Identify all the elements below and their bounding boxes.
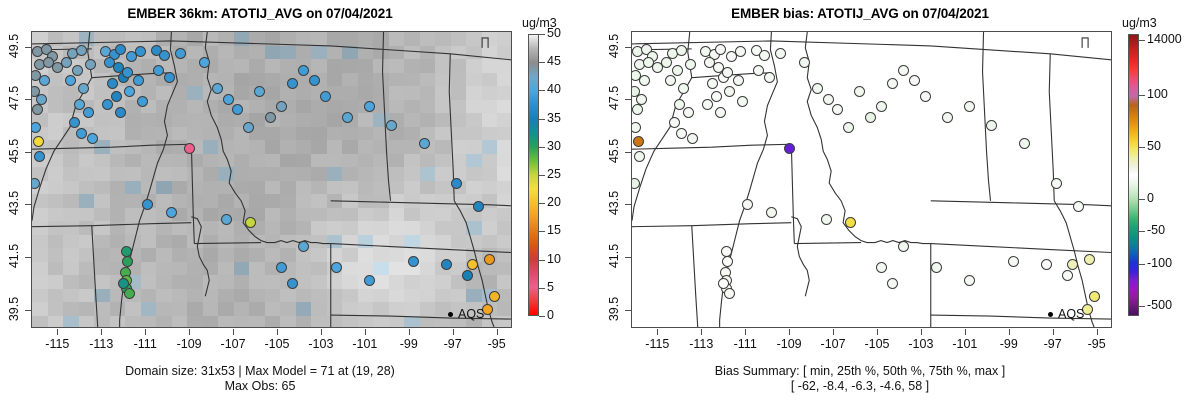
- figure-root: EMBER 36km: ATOTIJ_AVG on 07/04/2021: [0, 0, 1200, 409]
- x-axis-tick: [233, 329, 234, 335]
- colorbar-tick-label: 35: [547, 111, 561, 125]
- colorbar-tick-label: 0: [1147, 191, 1154, 205]
- x-axis-tick: [833, 329, 834, 335]
- x-axis-label: -95: [1074, 337, 1120, 351]
- y-axis-label: 43.5: [7, 180, 21, 226]
- colorbar-tick: [1139, 40, 1145, 41]
- x-axis-tick: [409, 329, 410, 335]
- x-axis-label: -111: [122, 337, 168, 351]
- bias-point[interactable]: [676, 45, 687, 56]
- bias-point[interactable]: [1019, 138, 1030, 149]
- observation-point[interactable]: [287, 78, 298, 89]
- observation-point[interactable]: [153, 65, 164, 76]
- y-axis-tick: [25, 99, 31, 100]
- observation-point[interactable]: [32, 104, 43, 115]
- observation-point[interactable]: [111, 91, 122, 102]
- x-axis-tick: [189, 329, 190, 335]
- x-axis-label: -107: [810, 337, 856, 351]
- observation-point[interactable]: [124, 288, 135, 299]
- bias-point[interactable]: [639, 75, 650, 86]
- observation-point[interactable]: [265, 112, 276, 123]
- observation-point[interactable]: [121, 246, 132, 257]
- observation-point[interactable]: [124, 86, 135, 97]
- bias-point[interactable]: [633, 136, 644, 147]
- bias-point[interactable]: [665, 75, 676, 86]
- aqs-legend-label-model: AQS: [458, 307, 484, 321]
- bias-point[interactable]: [1008, 256, 1019, 267]
- observation-point[interactable]: [118, 278, 129, 289]
- colorbar-tick: [539, 90, 545, 91]
- x-axis-label: -99: [386, 337, 432, 351]
- y-axis-label: 43.5: [607, 180, 621, 226]
- observation-point[interactable]: [245, 217, 256, 228]
- colorbar-tick-label: 20: [547, 195, 561, 209]
- observation-point[interactable]: [142, 199, 153, 210]
- colorbar-tick: [539, 288, 545, 289]
- bias-point[interactable]: [812, 83, 823, 94]
- panel-model: EMBER 36km: ATOTIJ_AVG on 07/04/2021: [0, 0, 600, 409]
- bias-point[interactable]: [674, 99, 685, 110]
- x-axis-label: -105: [254, 337, 300, 351]
- y-axis-label: 45.5: [607, 128, 621, 174]
- y-axis-tick: [625, 257, 631, 258]
- x-axis-tick: [789, 329, 790, 335]
- observation-point[interactable]: [87, 133, 98, 144]
- bias-point[interactable]: [898, 65, 909, 76]
- observation-point[interactable]: [31, 178, 40, 189]
- y-axis-tick: [625, 152, 631, 153]
- x-axis-label: -111: [722, 337, 768, 351]
- x-axis-label: -101: [342, 337, 388, 351]
- observation-point[interactable]: [364, 275, 375, 286]
- x-axis-label: -95: [474, 337, 520, 351]
- x-axis-tick: [57, 329, 58, 335]
- observation-point[interactable]: [61, 57, 72, 68]
- colorbar-tick: [539, 34, 545, 35]
- observation-point[interactable]: [364, 101, 375, 112]
- colorbar-gradient: [528, 34, 539, 316]
- bias-point[interactable]: [707, 78, 718, 89]
- bias-point[interactable]: [964, 275, 975, 286]
- bias-point[interactable]: [986, 120, 997, 131]
- observation-point[interactable]: [65, 75, 76, 86]
- x-axis-tick: [745, 329, 746, 335]
- aqs-legend-dot-model: [448, 312, 453, 317]
- observation-point[interactable]: [83, 107, 94, 118]
- bias-point[interactable]: [687, 133, 698, 144]
- colorbar-tick-label: -50: [1147, 223, 1165, 237]
- observation-point[interactable]: [76, 45, 87, 56]
- y-axis-tick: [625, 99, 631, 100]
- observation-point[interactable]: [320, 91, 331, 102]
- x-axis-tick: [497, 329, 498, 335]
- colorbar-tick-label: 40: [547, 82, 561, 96]
- y-axis-tick: [625, 310, 631, 311]
- x-axis-label: -109: [166, 337, 212, 351]
- observation-point[interactable]: [408, 256, 419, 267]
- state-boundaries-bias: [632, 32, 1111, 327]
- x-axis-tick: [657, 329, 658, 335]
- x-axis-label: -103: [898, 337, 944, 351]
- bias-point[interactable]: [676, 128, 687, 139]
- colorbar-tick-label: 45: [547, 54, 561, 68]
- colorbar-tick: [1139, 264, 1145, 265]
- y-axis-label: 41.5: [7, 233, 21, 279]
- colorbar-tick-label: 100: [1147, 87, 1168, 101]
- bias-point[interactable]: [631, 178, 640, 189]
- x-axis-label: -113: [678, 337, 724, 351]
- x-axis-tick: [101, 329, 102, 335]
- y-axis-label: 47.5: [607, 75, 621, 121]
- observation-point[interactable]: [199, 57, 210, 68]
- colorbar-tick-label: 30: [547, 139, 561, 153]
- y-axis-tick: [25, 204, 31, 205]
- observation-point[interactable]: [102, 99, 113, 110]
- bias-point[interactable]: [672, 65, 683, 76]
- observation-point[interactable]: [39, 75, 50, 86]
- x-axis-tick: [965, 329, 966, 335]
- bias-point[interactable]: [742, 199, 753, 210]
- x-axis-tick: [877, 329, 878, 335]
- y-axis-tick: [25, 47, 31, 48]
- bias-point[interactable]: [898, 241, 909, 252]
- observation-point[interactable]: [232, 104, 243, 115]
- observation-point[interactable]: [36, 94, 47, 105]
- bias-point[interactable]: [909, 75, 920, 86]
- bias-point[interactable]: [766, 207, 777, 218]
- bias-point[interactable]: [823, 94, 834, 105]
- bias-point[interactable]: [1041, 259, 1052, 270]
- footer-line2-bias: [ -62, -8.4, -6.3, -4.6, 58 ]: [600, 379, 1120, 393]
- observation-point[interactable]: [212, 83, 223, 94]
- bias-point[interactable]: [920, 91, 931, 102]
- x-axis-tick: [1053, 329, 1054, 335]
- observation-point[interactable]: [309, 75, 320, 86]
- observation-point[interactable]: [254, 86, 265, 97]
- observation-point[interactable]: [184, 143, 195, 154]
- y-axis-tick: [25, 152, 31, 153]
- colorbar-tick: [1139, 147, 1145, 148]
- colorbar-units: ug/m3: [1122, 16, 1157, 30]
- map-plot-model[interactable]: AQS: [31, 31, 512, 328]
- bias-point[interactable]: [685, 59, 696, 70]
- panel-title-bias: EMBER bias: ATOTIJ_AVG on 07/04/2021: [600, 6, 1120, 21]
- colorbar-tick: [539, 119, 545, 120]
- bias-point[interactable]: [724, 288, 735, 299]
- bias-point[interactable]: [718, 278, 729, 289]
- colorbar-tick-label: -500: [1147, 298, 1172, 312]
- x-axis-tick: [453, 329, 454, 335]
- y-axis-tick: [625, 47, 631, 48]
- bias-point[interactable]: [865, 112, 876, 123]
- x-axis-tick: [921, 329, 922, 335]
- bias-point[interactable]: [832, 104, 843, 115]
- panel-title-model: EMBER 36km: ATOTIJ_AVG on 07/04/2021: [0, 6, 520, 21]
- bias-point[interactable]: [715, 44, 726, 55]
- colorbar-tick: [539, 147, 545, 148]
- observation-point[interactable]: [107, 78, 118, 89]
- colorbar-tick: [1139, 306, 1145, 307]
- aqs-legend-dot-bias: [1048, 312, 1053, 317]
- colorbar-gradient: [1128, 34, 1139, 316]
- observation-point[interactable]: [76, 128, 87, 139]
- observation-point[interactable]: [72, 65, 83, 76]
- x-axis-tick: [1097, 329, 1098, 335]
- colorbar-tick: [539, 203, 545, 204]
- y-axis-label: 39.5: [607, 286, 621, 332]
- colorbar-tick: [539, 316, 545, 317]
- bias-point[interactable]: [1067, 259, 1078, 270]
- observation-point[interactable]: [33, 136, 44, 147]
- colorbar-tick-label: 50: [547, 26, 561, 40]
- y-axis-tick: [25, 257, 31, 258]
- map-plot-bias[interactable]: AQS: [631, 31, 1112, 328]
- colorbar-tick: [1139, 231, 1145, 232]
- bias-point[interactable]: [775, 48, 786, 59]
- colorbar-tick-label: 14000: [1147, 32, 1182, 46]
- x-axis-tick: [701, 329, 702, 335]
- x-axis-label: -103: [298, 337, 344, 351]
- x-axis-tick: [277, 329, 278, 335]
- observation-point[interactable]: [331, 262, 342, 273]
- bias-point[interactable]: [711, 91, 722, 102]
- observation-point[interactable]: [342, 112, 353, 123]
- y-axis-label: 39.5: [7, 286, 21, 332]
- bias-point[interactable]: [964, 101, 975, 112]
- colorbar-tick: [1139, 199, 1145, 200]
- observation-point[interactable]: [419, 138, 430, 149]
- colorbar-tick: [539, 260, 545, 261]
- y-axis-tick: [625, 204, 631, 205]
- bias-point[interactable]: [887, 78, 898, 89]
- x-axis-label: -115: [34, 337, 80, 351]
- bias-point[interactable]: [887, 278, 898, 289]
- observation-point[interactable]: [298, 65, 309, 76]
- bias-point[interactable]: [845, 217, 856, 228]
- x-axis-label: -101: [942, 337, 988, 351]
- bias-point[interactable]: [942, 112, 953, 123]
- x-axis-label: -97: [1030, 337, 1076, 351]
- y-axis-label: 41.5: [607, 233, 621, 279]
- bias-point[interactable]: [724, 86, 735, 97]
- observation-point[interactable]: [489, 291, 500, 302]
- colorbar-tick: [1139, 95, 1145, 96]
- bias-point[interactable]: [854, 86, 865, 97]
- colorbar-tick-label: 10: [547, 252, 561, 266]
- x-axis-label: -99: [986, 337, 1032, 351]
- x-axis-tick: [1009, 329, 1010, 335]
- x-axis-label: -97: [430, 337, 476, 351]
- bias-point[interactable]: [931, 262, 942, 273]
- observation-point[interactable]: [74, 99, 85, 110]
- y-axis-label: 47.5: [7, 75, 21, 121]
- colorbar-tick-label: 5: [547, 280, 554, 294]
- colorbar-tick: [539, 175, 545, 176]
- bias-point[interactable]: [1089, 291, 1100, 302]
- colorbar-tick: [539, 231, 545, 232]
- colorbar-tick-label: 25: [547, 167, 561, 181]
- bias-point[interactable]: [784, 143, 795, 154]
- x-axis-label: -109: [766, 337, 812, 351]
- y-axis-tick: [25, 310, 31, 311]
- colorbar-tick-label: 50: [1147, 139, 1161, 153]
- x-axis-tick: [145, 329, 146, 335]
- colorbar-tick-label: 15: [547, 223, 561, 237]
- y-axis-label: 45.5: [7, 128, 21, 174]
- x-axis-label: -113: [78, 337, 124, 351]
- observation-point[interactable]: [166, 207, 177, 218]
- y-axis-label: 49.5: [7, 23, 21, 69]
- bias-point[interactable]: [753, 65, 764, 76]
- colorbar-tick-label: -100: [1147, 256, 1172, 270]
- bias-point[interactable]: [632, 104, 643, 115]
- observation-point[interactable]: [85, 59, 96, 70]
- observation-point[interactable]: [276, 262, 287, 273]
- observation-point[interactable]: [386, 120, 397, 131]
- colorbar-tick: [539, 62, 545, 63]
- observation-point[interactable]: [467, 259, 478, 270]
- observation-point[interactable]: [287, 278, 298, 289]
- state-boundaries-model: [32, 32, 511, 327]
- x-axis-tick: [365, 329, 366, 335]
- bias-point[interactable]: [683, 107, 694, 118]
- observation-point[interactable]: [223, 94, 234, 105]
- footer-line2-model: Max Obs: 65: [0, 379, 520, 393]
- bias-point[interactable]: [876, 262, 887, 273]
- bias-point[interactable]: [702, 99, 713, 110]
- y-axis-label: 49.5: [607, 23, 621, 69]
- observation-point[interactable]: [175, 48, 186, 59]
- observation-point[interactable]: [298, 241, 309, 252]
- bias-point[interactable]: [661, 57, 672, 68]
- x-axis-label: -105: [854, 337, 900, 351]
- colorbar-tick-label: 0: [547, 308, 554, 322]
- panel-bias: EMBER bias: ATOTIJ_AVG on 07/04/2021: [600, 0, 1200, 409]
- footer-line1-model: Domain size: 31x53 | Max Model = 71 at (…: [0, 364, 520, 378]
- aqs-legend-label-bias: AQS: [1058, 307, 1084, 321]
- x-axis-label: -115: [634, 337, 680, 351]
- x-axis-tick: [321, 329, 322, 335]
- bias-point[interactable]: [721, 246, 732, 257]
- bias-point[interactable]: [799, 57, 810, 68]
- x-axis-label: -107: [210, 337, 256, 351]
- footer-line1-bias: Bias Summary: [ min, 25th %, 50th %, 75t…: [600, 364, 1120, 378]
- observation-point[interactable]: [441, 259, 452, 270]
- observation-point[interactable]: [115, 44, 126, 55]
- bias-point[interactable]: [636, 94, 647, 105]
